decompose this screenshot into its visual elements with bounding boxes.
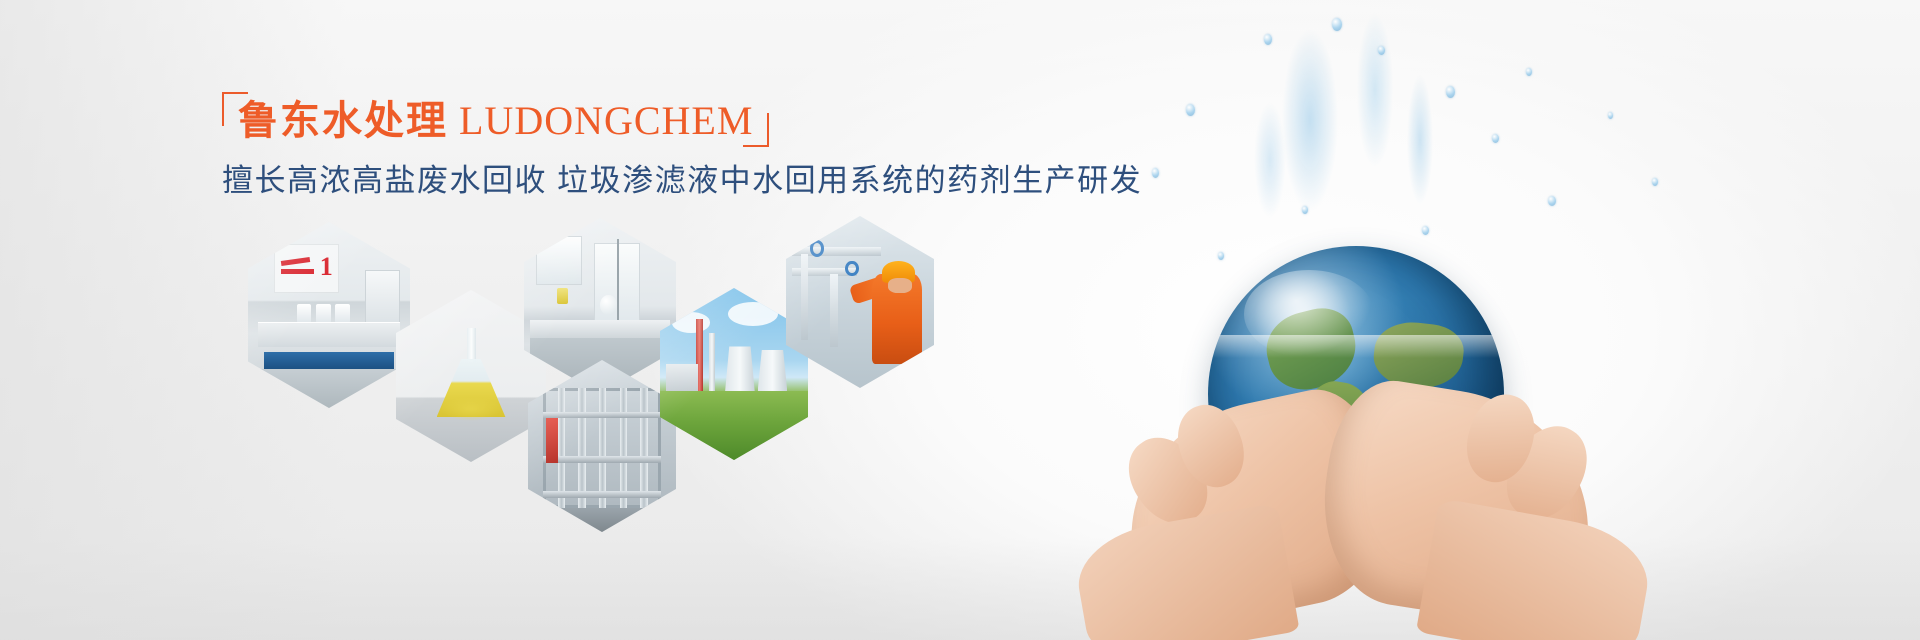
page-title-english: LUDONGCHEM xyxy=(459,98,753,143)
hexagon-worker-orange-uniform xyxy=(786,216,934,388)
page-title: 鲁东水处理 LUDONGCHEM xyxy=(238,100,753,142)
water-droplet xyxy=(1332,18,1342,31)
water-droplet xyxy=(1526,68,1532,76)
banner-root: 鲁东水处理 LUDONGCHEM 擅长高浓高盐废水回收 垃圾渗滤液中水回用系统的… xyxy=(0,0,1920,640)
wrist-right xyxy=(1416,498,1656,640)
headline-block: 鲁东水处理 LUDONGCHEM 擅长高浓高盐废水回收 垃圾渗滤液中水回用系统的… xyxy=(222,96,1142,199)
hexagon-power-plant-cooling-towers xyxy=(660,288,808,460)
water-droplet xyxy=(1608,112,1613,119)
water-droplet xyxy=(1652,178,1658,186)
water-droplet xyxy=(1548,196,1556,206)
water-droplet xyxy=(1492,134,1499,143)
main-title-wrapper: 鲁东水处理 LUDONGCHEM xyxy=(222,96,769,144)
hexagon-yellow-liquid-flask xyxy=(396,290,546,462)
water-droplet xyxy=(1218,252,1224,260)
page-title-chinese: 鲁东水处理 xyxy=(238,98,448,143)
hex-sheen xyxy=(396,290,546,462)
water-droplet xyxy=(1378,46,1385,55)
wrist-left xyxy=(1070,503,1299,640)
hexagon-laboratory-room: 1 xyxy=(248,222,410,408)
hex-sheen xyxy=(248,222,410,408)
water-droplet xyxy=(1422,226,1429,235)
globe-highlight xyxy=(1244,270,1374,359)
hex-sheen xyxy=(528,360,676,532)
page-subtitle: 擅长高浓高盐废水回收 垃圾渗滤液中水回用系统的药剂生产研发 xyxy=(222,162,1142,199)
water-droplet xyxy=(1186,104,1195,116)
hex-sheen xyxy=(660,288,808,460)
water-droplet xyxy=(1152,168,1159,178)
hexagon-industrial-pipe-rack xyxy=(528,360,676,532)
hex-sheen xyxy=(786,216,934,388)
water-droplet xyxy=(1264,34,1272,45)
water-globe-scene xyxy=(1040,0,1920,640)
water-droplet xyxy=(1302,206,1308,214)
water-droplet xyxy=(1446,86,1455,98)
